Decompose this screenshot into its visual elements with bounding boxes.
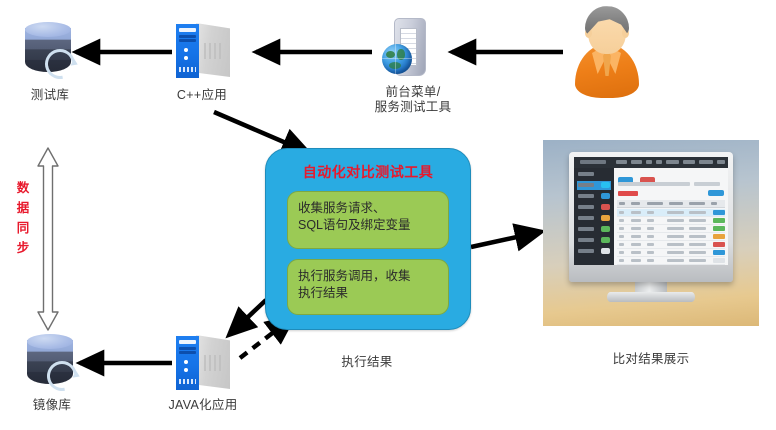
- tool-step-2-line2: 执行结果: [298, 285, 438, 302]
- label-execution-result: 执行结果: [303, 355, 431, 370]
- sidebar-item-label: [578, 249, 594, 253]
- web-server-globe-icon-frontend: [382, 16, 438, 82]
- db-top: [27, 334, 73, 349]
- sidebar-item[interactable]: [577, 236, 611, 245]
- sidebar-badge: [601, 215, 610, 221]
- data-sync-char: 数: [14, 178, 32, 198]
- person-icon-user: [572, 6, 642, 98]
- toolbar-buttons[interactable]: [618, 171, 658, 189]
- globe-landmass: [386, 51, 395, 58]
- vent-grill: [204, 43, 224, 59]
- table-header: [617, 200, 725, 208]
- sidebar-item[interactable]: [577, 203, 611, 212]
- sidebar-badge: [601, 226, 610, 232]
- monitor-screenshot-image: [543, 140, 759, 326]
- server-slot: [179, 39, 196, 42]
- table-row[interactable]: [617, 241, 725, 249]
- table-row[interactable]: [617, 233, 725, 241]
- breadcrumb: [618, 182, 690, 186]
- label-result-display: 比对结果展示: [591, 352, 711, 367]
- label-java-app: JAVA化应用: [148, 398, 258, 413]
- label-frontend-tool-line2: 服务测试工具: [358, 100, 468, 115]
- server-slot: [179, 347, 196, 350]
- server-slot: [179, 28, 196, 32]
- arrow-cpp-to-toolbox: [214, 112, 307, 152]
- sidebar-item[interactable]: [577, 214, 611, 223]
- server-led-icon: [184, 56, 188, 60]
- sidebar-badge: [601, 204, 610, 210]
- server-slot: [179, 340, 196, 344]
- db-top: [25, 22, 71, 37]
- sidebar-title: [578, 172, 594, 176]
- app-main-content: [614, 168, 728, 265]
- label-test-db: 测试库: [0, 88, 100, 103]
- breadcrumb-extra: [694, 182, 720, 186]
- tool-step-box-1[interactable]: 收集服务请求、 SQL语句及绑定变量: [287, 191, 449, 249]
- navbar-menu-item: [666, 160, 679, 164]
- globe-meridian: [395, 44, 396, 74]
- navbar-menu-item: [646, 160, 652, 164]
- automation-tool-box[interactable]: 自动化对比测试工具 收集服务请求、 SQL语句及绑定变量 执行服务调用，收集 执…: [265, 148, 471, 330]
- app-sidebar: [574, 168, 614, 265]
- sidebar-header-row: [577, 170, 611, 179]
- navbar-menu-item: [631, 160, 642, 164]
- sidebar-item[interactable]: [577, 247, 611, 256]
- label-mirror-db: 镜像库: [0, 398, 104, 413]
- label-frontend-tool-line1: 前台菜单/: [358, 85, 468, 100]
- sidebar-item-label: [578, 183, 594, 187]
- server-tower-icon-cpp: [174, 20, 230, 82]
- server-port-dots: [179, 67, 196, 72]
- server-port-dots: [179, 379, 196, 384]
- server-side-panel: [196, 335, 230, 389]
- arrow-data-sync: [38, 148, 58, 330]
- data-sync-label: 数 据 同 步: [14, 178, 32, 258]
- tool-box-title: 自动化对比测试工具: [266, 162, 470, 182]
- navbar-menu-item: [717, 160, 725, 164]
- globe-icon: [382, 44, 412, 74]
- sidebar-item[interactable]: [577, 192, 611, 201]
- sidebar-item-label: [578, 194, 594, 198]
- monitor-stand-base: [607, 292, 695, 302]
- server-side-panel: [196, 23, 230, 77]
- tool-step-box-2[interactable]: 执行服务调用，收集 执行结果: [287, 259, 449, 315]
- globe-equator: [382, 58, 412, 59]
- data-sync-char: 步: [14, 238, 32, 258]
- arrow-toolbox-to-javaapp: [230, 300, 266, 334]
- sidebar-item-label: [578, 205, 594, 209]
- server-led-icon: [184, 48, 188, 52]
- server-slot: [179, 35, 196, 38]
- sidebar-item-active[interactable]: [577, 181, 611, 190]
- sidebar-item-label: [578, 227, 594, 231]
- server-led-icon: [184, 360, 188, 364]
- table-row[interactable]: [617, 225, 725, 233]
- table-row[interactable]: [617, 249, 725, 257]
- monitor-bezel: [569, 152, 733, 282]
- database-icon-mirror-db: [24, 332, 78, 394]
- table-row[interactable]: [617, 217, 725, 225]
- navbar-menu-item: [656, 160, 662, 164]
- vent-grill: [204, 355, 224, 371]
- monitor-screen: [574, 157, 728, 265]
- add-button[interactable]: [708, 190, 724, 196]
- sidebar-item-label: [578, 238, 594, 242]
- data-sync-char: 同: [14, 218, 32, 238]
- server-slot: [179, 351, 196, 354]
- sidebar-badge: [601, 182, 610, 188]
- table-row[interactable]: [617, 209, 725, 217]
- label-cpp-app: C++应用: [152, 88, 252, 103]
- sidebar-item-label: [578, 216, 594, 220]
- server-led-icon: [184, 368, 188, 372]
- diagram-canvas: 测试库 C++应用 前台菜单/ 服务测试工具: [0, 0, 776, 430]
- server-tower-icon-java: [174, 332, 230, 394]
- navbar-menu-item: [683, 160, 695, 164]
- navbar-menu-item: [699, 160, 713, 164]
- sidebar-badge: [601, 193, 610, 199]
- tool-step-1-line1: 收集服务请求、: [298, 200, 438, 217]
- table-row[interactable]: [617, 257, 725, 265]
- section-title: [618, 191, 638, 196]
- server-front-panel: [176, 24, 199, 78]
- sidebar-badge: [601, 248, 610, 254]
- database-icon-test-db: [22, 20, 76, 82]
- sidebar-badge: [601, 237, 610, 243]
- data-sync-char: 据: [14, 198, 32, 218]
- arrow-toolbox-to-monitor: [471, 232, 540, 247]
- navbar-menu-item: [616, 160, 627, 164]
- server-front-panel: [176, 336, 199, 390]
- tool-step-1-line2: SQL语句及绑定变量: [298, 217, 438, 234]
- tool-step-2-line1: 执行服务调用，收集: [298, 268, 438, 285]
- app-brand-logo: [580, 160, 606, 164]
- app-top-navbar: [574, 157, 728, 168]
- sidebar-item[interactable]: [577, 225, 611, 234]
